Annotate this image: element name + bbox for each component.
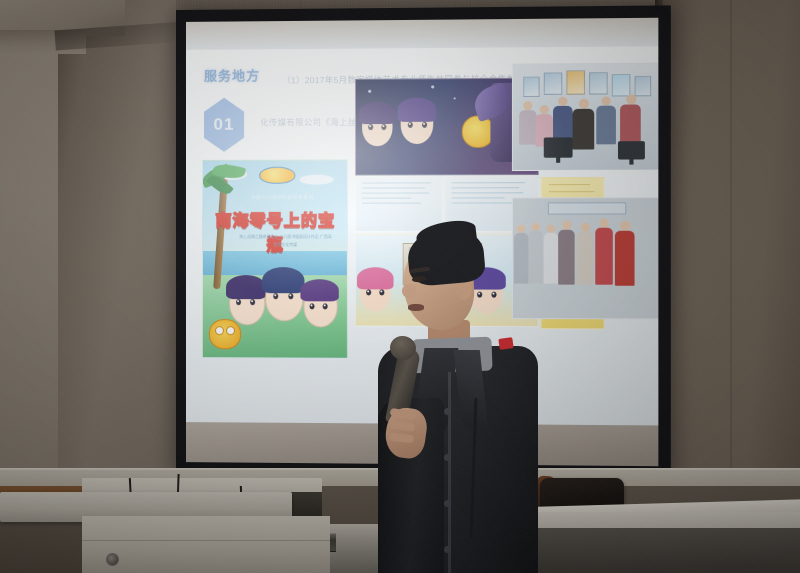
lecture-hall-photo: 服务地方 01 （1）2017年5月数字媒体艺术专业师生共同参与校企合作单位广西…: [0, 0, 800, 573]
cartoon-eye: [310, 303, 315, 309]
book-cover-image: 中国少儿海洋科普绘本系列 南海零号上的宝瓶 海上丝绸之路南珠宝宝 少儿图书插画设…: [202, 159, 348, 358]
person-body: [620, 104, 641, 145]
jacket-button: [444, 454, 451, 461]
cartoon-eye: [368, 124, 373, 130]
wall-artwork: [612, 74, 631, 97]
person-body: [573, 109, 595, 150]
slide-title: 服务地方: [204, 65, 260, 84]
book-publisher-logo: [259, 167, 295, 184]
cartoon-eye: [273, 293, 278, 299]
cartoon-crab: [209, 319, 241, 349]
person-body: [595, 228, 613, 285]
cartoon-eye: [323, 303, 328, 309]
cartoon-eye: [366, 289, 371, 295]
computer-monitor: [618, 141, 645, 159]
person-body: [615, 231, 635, 286]
person-head: [547, 225, 555, 233]
book-subtitle: 中国少儿海洋科普绘本系列: [227, 195, 338, 201]
wall-artwork: [544, 72, 563, 94]
crab-eye: [226, 326, 235, 335]
presenter-mouth: [408, 304, 424, 311]
jacket-button: [444, 546, 451, 553]
presenter-nose: [402, 284, 416, 298]
text-line: [549, 184, 590, 185]
person-head: [562, 221, 571, 230]
person-head: [626, 94, 636, 104]
cartoon-character-hair: [359, 102, 396, 124]
cartoon-eye: [422, 122, 427, 128]
classroom-group-photo: [512, 63, 658, 171]
text-line: [452, 197, 505, 198]
person-head: [540, 105, 549, 114]
text-line: [362, 187, 425, 188]
person-head: [599, 219, 608, 228]
presenter: [372, 222, 542, 573]
text-line: [452, 192, 524, 193]
cartoon-eye: [250, 299, 255, 305]
person-head: [620, 221, 630, 231]
wall-banner: [548, 202, 626, 214]
text-line: [362, 203, 421, 204]
star-shape: [431, 85, 434, 88]
left-wall-panel: [0, 0, 58, 470]
person-head: [579, 99, 589, 109]
person-body: [596, 106, 616, 145]
wall-artwork: [635, 76, 652, 96]
person-body: [577, 232, 594, 285]
cloud-shape: [299, 175, 333, 185]
jacket-button: [444, 500, 451, 507]
text-line: [362, 198, 411, 199]
text-line: [452, 202, 513, 203]
cartoon-character-hair: [262, 267, 304, 293]
text-line: [452, 187, 520, 188]
wall-artwork: [566, 70, 585, 95]
person-body: [558, 230, 574, 285]
console-body: [82, 516, 330, 573]
screen-unlit-top: [186, 18, 658, 50]
star-shape: [454, 97, 456, 99]
cartoon-eye: [408, 122, 413, 128]
wall-artwork: [589, 72, 608, 94]
console-panel-seam: [82, 540, 330, 541]
console-lock: [106, 553, 119, 566]
text-line: [362, 192, 429, 193]
person-body: [544, 233, 558, 284]
desk-front-panel: [520, 528, 800, 573]
right-wall-seam: [730, 0, 732, 470]
person-head: [581, 223, 590, 232]
cartoon-eye: [381, 124, 386, 130]
person-head: [558, 97, 567, 106]
chest-logo-badge: [498, 337, 513, 350]
person-head: [601, 96, 610, 105]
book-blurb: 海上丝绸之路南珠宝宝 少儿图书插画设计作品 广西阔途登文化传媒: [239, 233, 332, 249]
text-line: [362, 182, 431, 183]
left-column: [58, 0, 176, 470]
wall-artwork: [523, 77, 539, 97]
slide-number-label: 01: [214, 115, 235, 135]
slide-number-badge: 01: [204, 98, 244, 152]
cartoon-character-hair: [226, 275, 266, 299]
crab-eye: [215, 326, 224, 335]
jacket-placket: [448, 372, 451, 573]
cartoon-character-hair: [398, 98, 437, 122]
cartoon-character-hair: [300, 279, 338, 301]
jacket-button: [444, 408, 451, 415]
text-line: [452, 182, 526, 183]
person-body: [519, 110, 536, 145]
computer-monitor: [544, 137, 573, 157]
cartoon-eye: [288, 293, 293, 299]
text-line: [549, 191, 594, 192]
star-shape: [368, 90, 371, 93]
person-head: [523, 101, 532, 110]
cartoon-eye: [236, 299, 241, 305]
